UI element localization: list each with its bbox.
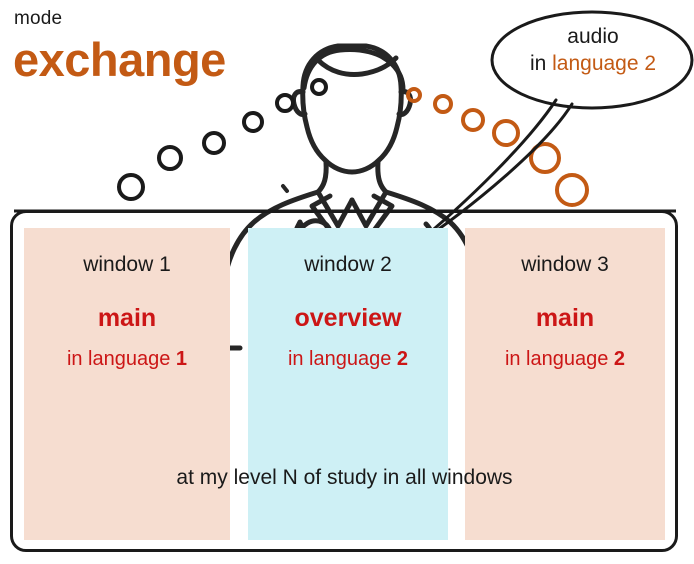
window-3-title: window 3 [465, 252, 665, 277]
speech-bubble-line-2: in language 2 [500, 51, 686, 78]
panel-caption: at my level N of study in all windows [24, 466, 665, 490]
window-column-2[interactable]: window 2 overview in language 2 [248, 228, 448, 540]
window-1-language: in language 1 [24, 347, 230, 371]
window-2-language: in language 2 [248, 347, 448, 371]
window-1-title: window 1 [24, 252, 230, 277]
window-2-language-number: 2 [397, 348, 408, 370]
window-1-language-number: 1 [176, 348, 187, 370]
window-3-language-number: 2 [614, 348, 625, 370]
diagram-canvas: mode exchange [0, 0, 694, 564]
speech-bubble-text: audio in language 2 [500, 24, 686, 78]
speech-bubble-line-2-prefix: in [530, 52, 552, 75]
window-3-language: in language 2 [465, 347, 665, 371]
window-1-role: main [24, 303, 230, 333]
window-2-title: window 2 [248, 252, 448, 277]
window-1-language-prefix: in language [67, 348, 176, 370]
windows-columns: window 1 main in language 1 window 2 ove… [24, 228, 665, 540]
window-3-language-prefix: in language [505, 348, 614, 370]
mode-label: mode [14, 8, 62, 30]
bubble-dots-left [119, 80, 326, 199]
window-column-3[interactable]: window 3 main in language 2 [465, 228, 665, 540]
speech-bubble-line-1: audio [500, 24, 686, 51]
speech-bubble-line-2-accent: language 2 [552, 52, 656, 75]
window-2-language-prefix: in language [288, 348, 397, 370]
window-3-role: main [465, 303, 665, 333]
bubble-dots-right [408, 89, 587, 205]
window-2-role: overview [248, 303, 448, 333]
mode-title: exchange [13, 36, 226, 83]
person-accent-tick [283, 186, 287, 191]
window-column-1[interactable]: window 1 main in language 1 [24, 228, 230, 540]
